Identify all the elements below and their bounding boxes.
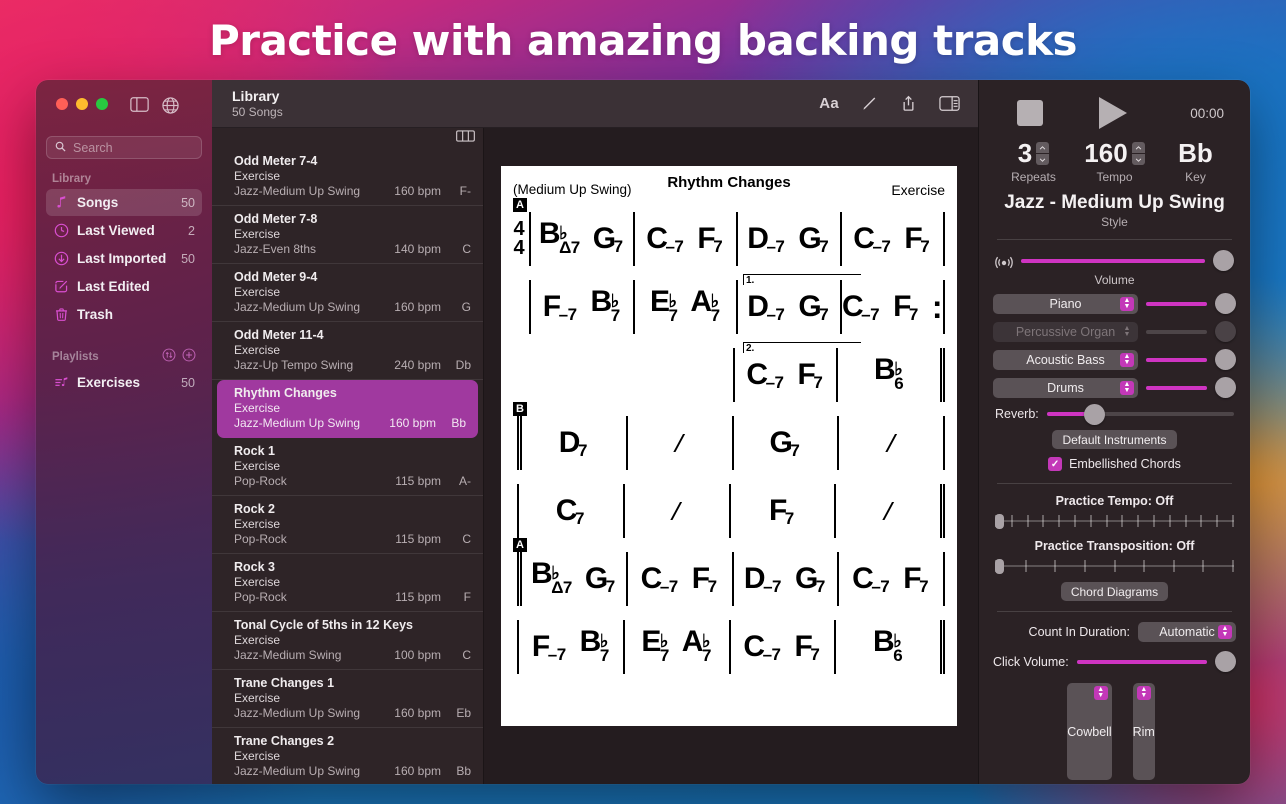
chart-system: 2. C–7 F7 B♭6 xyxy=(511,336,947,404)
song-type: Exercise xyxy=(234,459,471,473)
song-tempo: 160 bpm xyxy=(374,416,436,430)
chart-system: 1. F–7 B♭7 E♭7 A♭7 D–7 xyxy=(511,268,947,336)
column-view-icon[interactable] xyxy=(456,129,475,147)
chord-symbol: C7 xyxy=(556,496,586,526)
repeat-measure-symbol: ⁄ xyxy=(889,428,893,459)
sidebar: Search Library Songs 50 Last Viewed 2 La… xyxy=(36,80,212,784)
embellished-chords-row[interactable]: ✓ Embellished Chords xyxy=(993,457,1236,471)
reverb-track[interactable] xyxy=(1047,412,1234,416)
sidebar-section-library-header: Library xyxy=(46,173,202,189)
song-title: Odd Meter 7-8 xyxy=(234,212,471,226)
song-key: Bb xyxy=(441,764,471,778)
measure: C–7 F7 : xyxy=(840,280,944,334)
reverb-label: Reverb: xyxy=(995,407,1039,421)
song-key: F xyxy=(441,590,471,604)
search-placeholder: Search xyxy=(73,141,113,155)
master-volume-knob[interactable] xyxy=(1213,250,1234,271)
song-type: Exercise xyxy=(234,401,466,415)
edit-pencil-icon[interactable] xyxy=(861,95,878,112)
chevron-updown-icon: ▲▼ xyxy=(1120,381,1134,395)
chord-symbol: D–7 xyxy=(744,564,783,594)
chord-chart: (Medium Up Swing) Rhythm Changes Exercis… xyxy=(501,166,957,726)
chord-symbol: C–7 xyxy=(743,632,782,662)
song-list-scroll[interactable]: Odd Meter 7-4 Exercise Jazz-Medium Up Sw… xyxy=(212,148,483,784)
repeats-counter[interactable]: 3 Repeats xyxy=(993,138,1074,184)
chord-symbol: C–7 xyxy=(842,292,881,322)
key-label: Key xyxy=(1155,170,1236,184)
measure: C–7 F7 xyxy=(729,620,835,674)
chart-viewer[interactable]: (Medium Up Swing) Rhythm Changes Exercis… xyxy=(484,128,978,784)
chord-symbol: G7 xyxy=(593,224,625,254)
song-key: C xyxy=(441,242,471,256)
chord-symbol: D–7 xyxy=(747,224,786,254)
song-style: Jazz-Even 8ths xyxy=(234,242,379,256)
instrument-name: Piano xyxy=(1050,297,1082,311)
song-title: Odd Meter 11-4 xyxy=(234,328,471,342)
sidebar-item-songs[interactable]: Songs 50 xyxy=(46,189,202,216)
instrument-name: Percussive Organ xyxy=(1016,325,1115,339)
embellished-chords-label: Embellished Chords xyxy=(1069,457,1181,471)
master-volume-row[interactable] xyxy=(993,250,1236,271)
download-icon xyxy=(53,251,69,267)
song-tempo: 160 bpm xyxy=(379,764,441,778)
time-signature: 4 4 xyxy=(511,212,527,266)
song-row[interactable]: Odd Meter 11-4 Exercise Jazz-Up Tempo Sw… xyxy=(212,322,483,380)
song-tempo: 160 bpm xyxy=(379,706,441,720)
chord-symbol: F7 xyxy=(893,292,920,322)
song-row[interactable]: Rock 2 Exercise Pop-Rock 115 bpm C xyxy=(212,496,483,554)
song-title: Odd Meter 9-4 xyxy=(234,270,471,284)
chord-symbol: B♭Δ7 xyxy=(531,559,573,600)
zoom-button[interactable] xyxy=(96,98,108,110)
barline-double xyxy=(940,620,945,674)
sidebar-section-label: Playlists xyxy=(52,351,99,363)
measure: C–7 F7 xyxy=(733,348,837,402)
measure: D–7 G7 xyxy=(736,212,840,266)
instrument-volume-track[interactable] xyxy=(1146,386,1207,390)
click-1-value: Cowbell xyxy=(1067,725,1111,739)
barline-double xyxy=(940,348,945,402)
instrument-volume-knob[interactable] xyxy=(1215,349,1236,370)
chart-system: A 4 4 B♭Δ7 G7 C–7 F7 xyxy=(511,200,947,268)
practice-transposition-slider[interactable] xyxy=(995,558,1234,574)
style-label: Style xyxy=(993,215,1236,229)
song-style: Jazz-Up Tempo Swing xyxy=(234,358,379,372)
song-row[interactable]: Rock 3 Exercise Pop-Rock 115 bpm F xyxy=(212,554,483,612)
song-key: C xyxy=(441,648,471,662)
click-volume-label: Click Volume: xyxy=(993,655,1069,669)
section-marker: B xyxy=(513,402,527,416)
clock-icon xyxy=(53,223,69,239)
song-row[interactable]: Trane Changes 1 Exercise Jazz-Medium Up … xyxy=(212,670,483,728)
stepper-up[interactable] xyxy=(1036,142,1049,153)
song-style: Pop-Rock xyxy=(234,532,379,546)
song-tempo: 140 bpm xyxy=(379,242,441,256)
tempo-counter[interactable]: 160 Tempo xyxy=(1074,138,1155,184)
instrument-name: Acoustic Bass xyxy=(1026,353,1105,367)
click-2-group: Rim ▲▼ Click 2 xyxy=(1126,683,1162,784)
default-instruments-button[interactable]: Default Instruments xyxy=(1052,430,1176,449)
measure: C–7 F7 xyxy=(626,552,732,606)
pencil-square-icon xyxy=(53,279,69,295)
chord-symbol: E♭7 xyxy=(641,627,669,668)
measure: F–7 B♭7 xyxy=(529,280,633,334)
song-type: Exercise xyxy=(234,169,471,183)
sidebar-item-label: Last Viewed xyxy=(77,223,180,238)
song-type: Exercise xyxy=(234,575,471,589)
chord-symbol: A♭7 xyxy=(690,287,720,328)
chart-system: C7 ⁄ F7 ⁄ xyxy=(511,472,947,540)
song-style: Pop-Rock xyxy=(234,590,379,604)
song-row[interactable]: Tonal Cycle of 5ths in 12 Keys Exercise … xyxy=(212,612,483,670)
sidebar-item-last-viewed[interactable]: Last Viewed 2 xyxy=(46,217,202,244)
click-2-value: Rim xyxy=(1133,725,1155,739)
instrument-volume-knob[interactable] xyxy=(1215,321,1236,342)
song-tempo: 100 bpm xyxy=(379,648,441,662)
banner-headline: Practice with amazing backing tracks xyxy=(209,16,1077,65)
chevron-updown-icon: ▲▼ xyxy=(1094,686,1108,700)
song-row[interactable]: Rock 1 Exercise Pop-Rock 115 bpm A- xyxy=(212,438,483,496)
music-note-icon xyxy=(53,195,69,211)
sidebar-item-count: 50 xyxy=(181,376,195,390)
tempo-stepper[interactable] xyxy=(1132,142,1145,165)
sidebar-item-label: Last Imported xyxy=(77,251,173,266)
add-playlist-icon[interactable] xyxy=(182,348,196,365)
song-title: Rhythm Changes xyxy=(234,386,466,400)
barline xyxy=(943,280,945,334)
practice-transposition-label: Practice Transposition: Off xyxy=(993,539,1236,553)
measure: F–7 B♭7 xyxy=(517,620,623,674)
measure: D–7 G7 xyxy=(732,552,838,606)
section-marker: A xyxy=(513,538,527,552)
sidebar-item-trash[interactable]: Trash xyxy=(46,301,202,328)
measure: ⁄ xyxy=(623,484,729,538)
song-row[interactable]: Odd Meter 9-4 Exercise Jazz-Medium Up Sw… xyxy=(212,264,483,322)
song-type: Exercise xyxy=(234,285,471,299)
song-tempo: 160 bpm xyxy=(379,300,441,314)
song-key: F- xyxy=(441,184,471,198)
inspector-panel: 00:00 3 Repeats xyxy=(978,80,1250,784)
song-style: Jazz-Medium Up Swing xyxy=(234,416,374,430)
chord-symbol: B♭7 xyxy=(580,627,610,668)
sidebar-item-label: Trash xyxy=(77,307,187,322)
song-title: Odd Meter 7-4 xyxy=(234,154,471,168)
sort-playlists-icon[interactable] xyxy=(162,348,176,365)
song-type: Exercise xyxy=(234,633,471,647)
song-type: Exercise xyxy=(234,749,471,763)
stepper-down[interactable] xyxy=(1036,154,1049,165)
chord-symbol: B♭6 xyxy=(874,355,904,396)
practice-tempo-knob[interactable] xyxy=(995,514,1004,529)
instrument-row-organ: Percussive Organ ▲▼ xyxy=(993,321,1236,342)
chord-symbol: C–7 xyxy=(853,224,892,254)
song-style: Jazz-Medium Up Swing xyxy=(234,764,379,778)
divider xyxy=(997,483,1232,484)
chord-symbol: F7 xyxy=(769,496,796,526)
page-title: Library xyxy=(232,88,283,104)
share-icon[interactable] xyxy=(900,95,917,112)
embellished-chords-checkbox[interactable]: ✓ xyxy=(1048,457,1062,471)
key-value: Bb xyxy=(1178,138,1213,169)
close-button[interactable] xyxy=(56,98,68,110)
click-2-select[interactable]: Rim ▲▼ xyxy=(1133,683,1155,780)
song-tempo: 115 bpm xyxy=(379,474,441,488)
measure: B♭Δ7 G7 xyxy=(517,552,626,606)
text-size-icon[interactable]: Aa xyxy=(819,95,839,112)
search-icon xyxy=(55,139,66,157)
song-style: Jazz-Medium Up Swing xyxy=(234,184,379,198)
song-title: Trane Changes 1 xyxy=(234,676,471,690)
sidebar-item-count: 50 xyxy=(181,252,195,266)
chevron-updown-icon: ▲▼ xyxy=(1120,325,1134,339)
reverb-row: Reverb: xyxy=(993,407,1236,421)
song-title: Tonal Cycle of 5ths in 12 Keys xyxy=(234,618,471,632)
key-counter[interactable]: Bb Key xyxy=(1155,138,1236,184)
count-in-select[interactable]: Automatic ▲▼ xyxy=(1138,622,1236,642)
song-style: Jazz-Medium Swing xyxy=(234,648,379,662)
chord-symbol: F7 xyxy=(798,360,825,390)
chord-symbol: D–7 xyxy=(747,292,786,322)
song-key: Bb xyxy=(436,416,466,430)
sidebar-item-label: Exercises xyxy=(77,375,173,390)
chevron-updown-icon: ▲▼ xyxy=(1218,625,1232,639)
song-title: Rock 2 xyxy=(234,502,471,516)
sidebar-section-label: Library xyxy=(52,173,91,185)
song-list-header xyxy=(212,128,483,148)
chord-symbol: F7 xyxy=(904,224,931,254)
repeats-stepper[interactable] xyxy=(1036,142,1049,165)
style-name: Jazz - Medium Up Swing xyxy=(993,192,1236,214)
count-in-label: Count In Duration: xyxy=(1029,625,1130,639)
chord-symbol: E♭7 xyxy=(650,287,678,328)
main-area: Library 50 Songs Aa xyxy=(212,80,978,784)
song-row[interactable]: Trane Changes 2 Exercise Jazz-Medium Up … xyxy=(212,728,483,784)
instrument-row-piano: Piano ▲▼ xyxy=(993,293,1236,314)
song-row-selected[interactable]: Rhythm Changes Exercise Jazz-Medium Up S… xyxy=(217,380,478,438)
chord-symbol: F–7 xyxy=(543,292,579,322)
click-1-group: Cowbell ▲▼ Click 1 xyxy=(1067,683,1111,784)
song-type: Exercise xyxy=(234,343,471,357)
instrument-select-drums[interactable]: Drums ▲▼ xyxy=(993,378,1138,398)
time-signature-bottom: 4 xyxy=(513,239,524,258)
instrument-volume-track[interactable] xyxy=(1146,302,1207,306)
instrument-volume-track[interactable] xyxy=(1146,330,1207,334)
measure: B♭Δ7 G7 xyxy=(529,212,633,266)
instrument-volume-track[interactable] xyxy=(1146,358,1207,362)
promo-banner: Practice with amazing backing tracks xyxy=(0,0,1286,80)
chord-symbol: G7 xyxy=(769,428,801,458)
practice-tempo-label: Practice Tempo: Off xyxy=(993,494,1236,508)
tempo-label: Tempo xyxy=(1074,170,1155,184)
instrument-row-drums: Drums ▲▼ xyxy=(993,377,1236,398)
song-style: Jazz-Medium Up Swing xyxy=(234,706,379,720)
barline-double xyxy=(940,484,945,538)
count-in-value: Automatic xyxy=(1159,625,1215,639)
measure: E♭7 A♭7 xyxy=(633,280,737,334)
measure: D–7 G7 xyxy=(736,280,840,334)
measure: G7 xyxy=(732,416,838,470)
tempo-value: 160 xyxy=(1084,138,1127,169)
click-sounds-row: Cowbell ▲▼ Click 1 Rim ▲▼ Click 2 xyxy=(993,683,1236,784)
instrument-select-piano[interactable]: Piano ▲▼ xyxy=(993,294,1138,314)
sidebar-item-count: 50 xyxy=(181,196,195,210)
chart-system: F–7 B♭7 E♭7 A♭7 C–7 F7 xyxy=(511,608,947,676)
toolbar: Library 50 Songs Aa xyxy=(212,80,978,128)
measure: ⁄ xyxy=(837,416,943,470)
chord-symbol: B♭7 xyxy=(591,287,621,328)
chart-system: B D7 ⁄ G7 ⁄ xyxy=(511,404,947,472)
repeat-measure-symbol: ⁄ xyxy=(675,496,679,527)
song-key: Eb xyxy=(441,706,471,720)
song-tempo: 240 bpm xyxy=(379,358,441,372)
transport-controls: 00:00 xyxy=(993,90,1236,136)
chord-symbol: C–7 xyxy=(646,224,685,254)
instrument-name: Drums xyxy=(1047,381,1084,395)
chord-symbol: B♭6 xyxy=(873,627,903,668)
stepper-up[interactable] xyxy=(1132,142,1145,153)
song-row[interactable]: Odd Meter 7-8 Exercise Jazz-Even 8ths 14… xyxy=(212,206,483,264)
repeats-label: Repeats xyxy=(993,170,1074,184)
song-title: Rock 1 xyxy=(234,444,471,458)
song-type: Exercise xyxy=(234,691,471,705)
chord-symbol: G7 xyxy=(585,564,617,594)
song-key: C xyxy=(441,532,471,546)
chord-symbol: D7 xyxy=(559,428,589,458)
practice-tempo-slider[interactable] xyxy=(995,513,1234,529)
trash-icon xyxy=(53,307,69,323)
chord-symbol: A♭7 xyxy=(682,627,712,668)
chord-diagrams-button[interactable]: Chord Diagrams xyxy=(1061,582,1168,601)
page-subtitle: 50 Songs xyxy=(232,105,283,119)
barline xyxy=(943,416,945,470)
chord-symbol: F7 xyxy=(903,564,930,594)
song-key: A- xyxy=(441,474,471,488)
chart-system: A B♭Δ7 G7 C–7 F7 D–7 xyxy=(511,540,947,608)
chevron-updown-icon: ▲▼ xyxy=(1120,297,1134,311)
song-title: Trane Changes 2 xyxy=(234,734,471,748)
reverb-knob[interactable] xyxy=(1084,404,1105,425)
chord-symbol: F7 xyxy=(795,632,822,662)
chord-symbol: F7 xyxy=(692,564,719,594)
chord-symbol: G7 xyxy=(798,292,830,322)
chart-corner-note: Exercise xyxy=(891,182,945,198)
instrument-volume-knob[interactable] xyxy=(1215,377,1236,398)
count-in-row: Count In Duration: Automatic ▲▼ xyxy=(993,622,1236,642)
click-volume-knob[interactable] xyxy=(1215,651,1236,672)
measure: ⁄ xyxy=(834,484,940,538)
measure: C–7 F7 xyxy=(633,212,737,266)
chevron-updown-icon: ▲▼ xyxy=(1137,686,1151,700)
measure: C–7 F7 xyxy=(837,552,943,606)
instrument-volume-knob[interactable] xyxy=(1215,293,1236,314)
song-list[interactable]: Odd Meter 7-4 Exercise Jazz-Medium Up Sw… xyxy=(212,128,484,784)
airplay-icon[interactable] xyxy=(995,252,1013,270)
search-input[interactable]: Search xyxy=(46,136,202,159)
song-key: G xyxy=(441,300,471,314)
repeats-value: 3 xyxy=(1018,138,1032,169)
chevron-updown-icon: ▲▼ xyxy=(1120,353,1134,367)
song-type: Exercise xyxy=(234,517,471,531)
song-type: Exercise xyxy=(234,227,471,241)
divider xyxy=(997,239,1232,240)
inspector-toggle-icon[interactable] xyxy=(939,96,960,111)
chord-symbol: C–7 xyxy=(746,360,785,390)
song-style: Jazz-Medium Up Swing xyxy=(234,300,379,314)
chord-symbol: G7 xyxy=(795,564,827,594)
divider xyxy=(997,611,1232,612)
chord-symbol: F–7 xyxy=(532,632,568,662)
measure: F7 xyxy=(729,484,835,538)
sidebar-item-label: Songs xyxy=(77,195,173,210)
instrument-select-bass[interactable]: Acoustic Bass ▲▼ xyxy=(993,350,1138,370)
instrument-row-bass: Acoustic Bass ▲▼ xyxy=(993,349,1236,370)
playback-time: 00:00 xyxy=(1190,106,1230,121)
repeat-end-sign: : xyxy=(932,289,943,326)
chord-symbol: G7 xyxy=(798,224,830,254)
song-tempo: 115 bpm xyxy=(379,532,441,546)
click-volume-row: Click Volume: xyxy=(993,651,1236,672)
click-1-select[interactable]: Cowbell ▲▼ xyxy=(1067,683,1111,780)
measure: C–7 F7 xyxy=(840,212,944,266)
globe-icon[interactable] xyxy=(162,97,180,112)
section-marker: A xyxy=(513,198,527,212)
app-window: Search Library Songs 50 Last Viewed 2 La… xyxy=(36,80,1250,784)
practice-transposition-knob[interactable] xyxy=(995,559,1004,574)
chart-title: Rhythm Changes xyxy=(511,174,947,191)
sidebar-item-last-edited[interactable]: Last Edited xyxy=(46,273,202,300)
chord-symbol: C–7 xyxy=(852,564,891,594)
repeat-measure-symbol: ⁄ xyxy=(678,428,682,459)
measure: D7 xyxy=(517,416,626,470)
stop-button[interactable] xyxy=(1017,100,1043,126)
toolbar-title-group: Library 50 Songs xyxy=(232,88,283,119)
sidebar-toggle-icon[interactable] xyxy=(130,97,148,112)
song-key: Db xyxy=(441,358,471,372)
counters-row: 3 Repeats 160 xyxy=(993,138,1236,184)
chord-symbol: B♭Δ7 xyxy=(539,219,581,260)
master-volume-label: Volume xyxy=(993,273,1236,287)
song-row[interactable]: Odd Meter 7-4 Exercise Jazz-Medium Up Sw… xyxy=(212,148,483,206)
playlist-icon xyxy=(53,375,69,391)
song-tempo: 115 bpm xyxy=(379,590,441,604)
chord-symbol: C–7 xyxy=(641,564,680,594)
sidebar-section-playlists-header: Playlists xyxy=(46,348,202,369)
click-volume-track[interactable] xyxy=(1077,660,1207,664)
sidebar-item-count: 2 xyxy=(188,224,195,238)
barline xyxy=(943,212,945,266)
measure: C7 xyxy=(517,484,623,538)
sidebar-item-exercises[interactable]: Exercises 50 xyxy=(46,369,202,396)
instrument-select-organ[interactable]: Percussive Organ ▲▼ xyxy=(993,322,1138,342)
click-2-label: Click 2 xyxy=(1126,782,1162,784)
chart-header: (Medium Up Swing) Rhythm Changes Exercis… xyxy=(511,174,947,200)
song-tempo: 160 bpm xyxy=(379,184,441,198)
measure: ⁄ xyxy=(626,416,732,470)
play-button[interactable] xyxy=(1099,97,1127,129)
song-style: Pop-Rock xyxy=(234,474,379,488)
minimize-button[interactable] xyxy=(76,98,88,110)
chord-symbol: F7 xyxy=(697,224,724,254)
song-title: Rock 3 xyxy=(234,560,471,574)
barline xyxy=(943,552,945,606)
master-volume-track[interactable] xyxy=(1021,259,1205,263)
measure: B♭6 xyxy=(836,348,940,402)
sidebar-item-last-imported[interactable]: Last Imported 50 xyxy=(46,245,202,272)
stepper-down[interactable] xyxy=(1132,154,1145,165)
measure: B♭6 xyxy=(834,620,940,674)
repeat-measure-symbol: ⁄ xyxy=(886,496,890,527)
click-1-label: Click 1 xyxy=(1071,782,1107,784)
